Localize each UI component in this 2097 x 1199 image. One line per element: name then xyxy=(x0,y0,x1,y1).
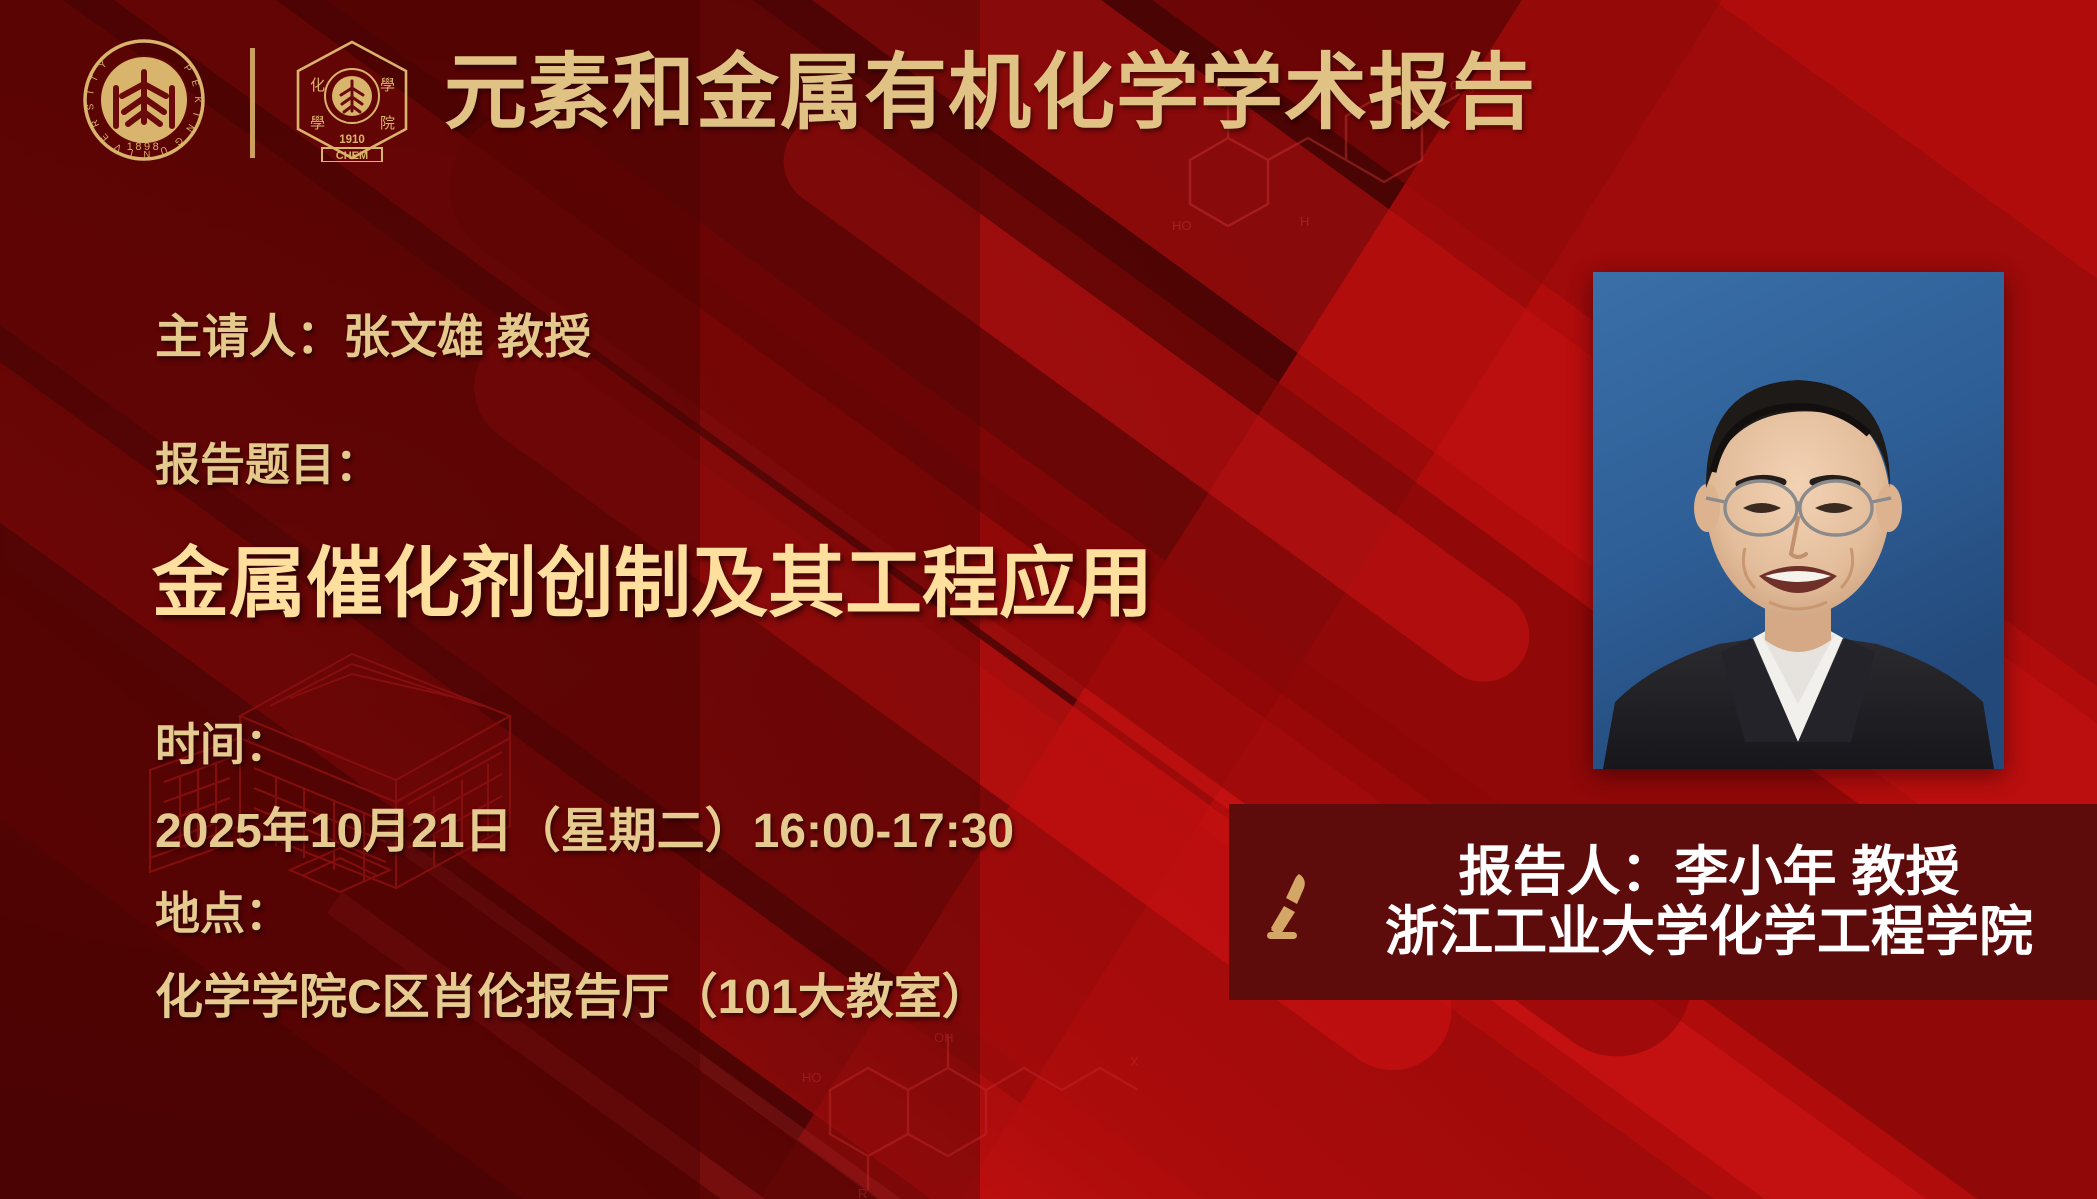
emblem-char-hua: 化 xyxy=(310,77,325,94)
host-line: 主请人：张文雄 教授 xyxy=(155,298,591,367)
page-title: 元素和金属有机化学学术报告 xyxy=(444,42,1536,143)
place-value: 化学学院C区肖伦报告厅（101大教室） xyxy=(155,957,990,1027)
place-label: 地点： xyxy=(155,877,290,942)
speaker-name-line: 报告人：李小年 教授 xyxy=(1347,842,2071,902)
svg-text:HO: HO xyxy=(802,1070,822,1085)
speaker-org-line: 浙江工业大学化学工程学院 xyxy=(1347,902,2071,962)
speaker-banner: 报告人：李小年 教授 浙江工业大学化学工程学院 xyxy=(1229,804,2097,1000)
chemical-structure-watermark-bottom: HO OH R X xyxy=(800,1030,1160,1199)
pku-chemistry-college-emblem-icon: 1898 化 學 學 院 1910 CHEM xyxy=(288,38,416,162)
topic-label: 报告题目： xyxy=(155,428,380,493)
seminar-poster: O CH3 HO H HO OH R X xyxy=(0,0,2097,1199)
svg-text:HO: HO xyxy=(1172,218,1192,233)
emblem-char-xue2: 學 xyxy=(310,114,325,132)
svg-text:R: R xyxy=(858,1186,867,1199)
poster-header: P E K I N G U N I V E R S I T Y 1898 189… xyxy=(0,0,2097,186)
topic-title: 金属催化剂创制及其工程应用 xyxy=(152,522,1153,633)
emblem-char-xue1: 學 xyxy=(380,76,395,94)
svg-text:1898: 1898 xyxy=(346,118,358,124)
seal-year: 1898 xyxy=(127,141,161,153)
svg-text:X: X xyxy=(1130,1054,1139,1069)
time-value: 2025年10月21日（星期二）16:00-17:30 xyxy=(155,791,1014,861)
microphone-icon xyxy=(1229,860,1347,944)
emblem-year: 1910 xyxy=(339,134,365,146)
svg-text:H: H xyxy=(1300,214,1309,229)
logo-divider xyxy=(250,48,255,158)
emblem-char-yuan: 院 xyxy=(380,114,395,132)
speaker-portrait-photo xyxy=(1593,272,2004,769)
emblem-label: CHEM xyxy=(336,150,368,162)
time-label: 时间： xyxy=(155,708,290,773)
peking-university-seal-icon: P E K I N G U N I V E R S I T Y 1898 xyxy=(82,38,206,162)
svg-text:OH: OH xyxy=(934,1030,954,1045)
